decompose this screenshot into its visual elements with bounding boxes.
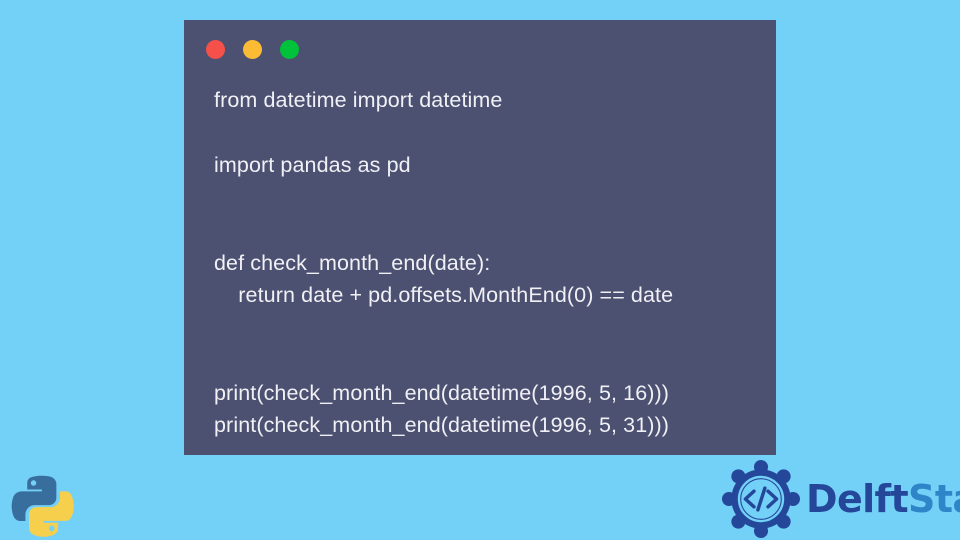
code-line xyxy=(214,117,768,150)
traffic-light-green-icon[interactable] xyxy=(280,40,299,59)
python-logo xyxy=(10,468,74,540)
code-window: from datetime import datetime import pan… xyxy=(184,20,776,455)
code-brackets-mandala-icon xyxy=(722,460,800,538)
code-line: def check_month_end(date): xyxy=(214,247,768,280)
page-canvas: from datetime import datetime import pan… xyxy=(0,0,960,540)
delftstack-logo: DelftStack xyxy=(722,458,960,540)
window-titlebar xyxy=(206,40,299,59)
code-line: import pandas as pd xyxy=(214,149,768,182)
code-line: print(check_month_end(datetime(1996, 5, … xyxy=(214,377,768,410)
code-line: print(check_month_end(datetime(1996, 5, … xyxy=(214,409,768,442)
code-line xyxy=(214,312,768,345)
code-line xyxy=(214,182,768,215)
code-line: from datetime import datetime xyxy=(214,84,768,117)
code-block: from datetime import datetime import pan… xyxy=(214,84,768,442)
delftstack-wordmark: DelftStack xyxy=(806,480,960,518)
code-line xyxy=(214,344,768,377)
traffic-light-amber-icon[interactable] xyxy=(243,40,262,59)
code-line: return date + pd.offsets.MonthEnd(0) == … xyxy=(214,279,768,312)
traffic-light-red-icon[interactable] xyxy=(206,40,225,59)
delftstack-word-stack: Stack xyxy=(908,477,960,521)
code-line xyxy=(214,214,768,247)
delftstack-word-delft: Delft xyxy=(806,477,908,521)
